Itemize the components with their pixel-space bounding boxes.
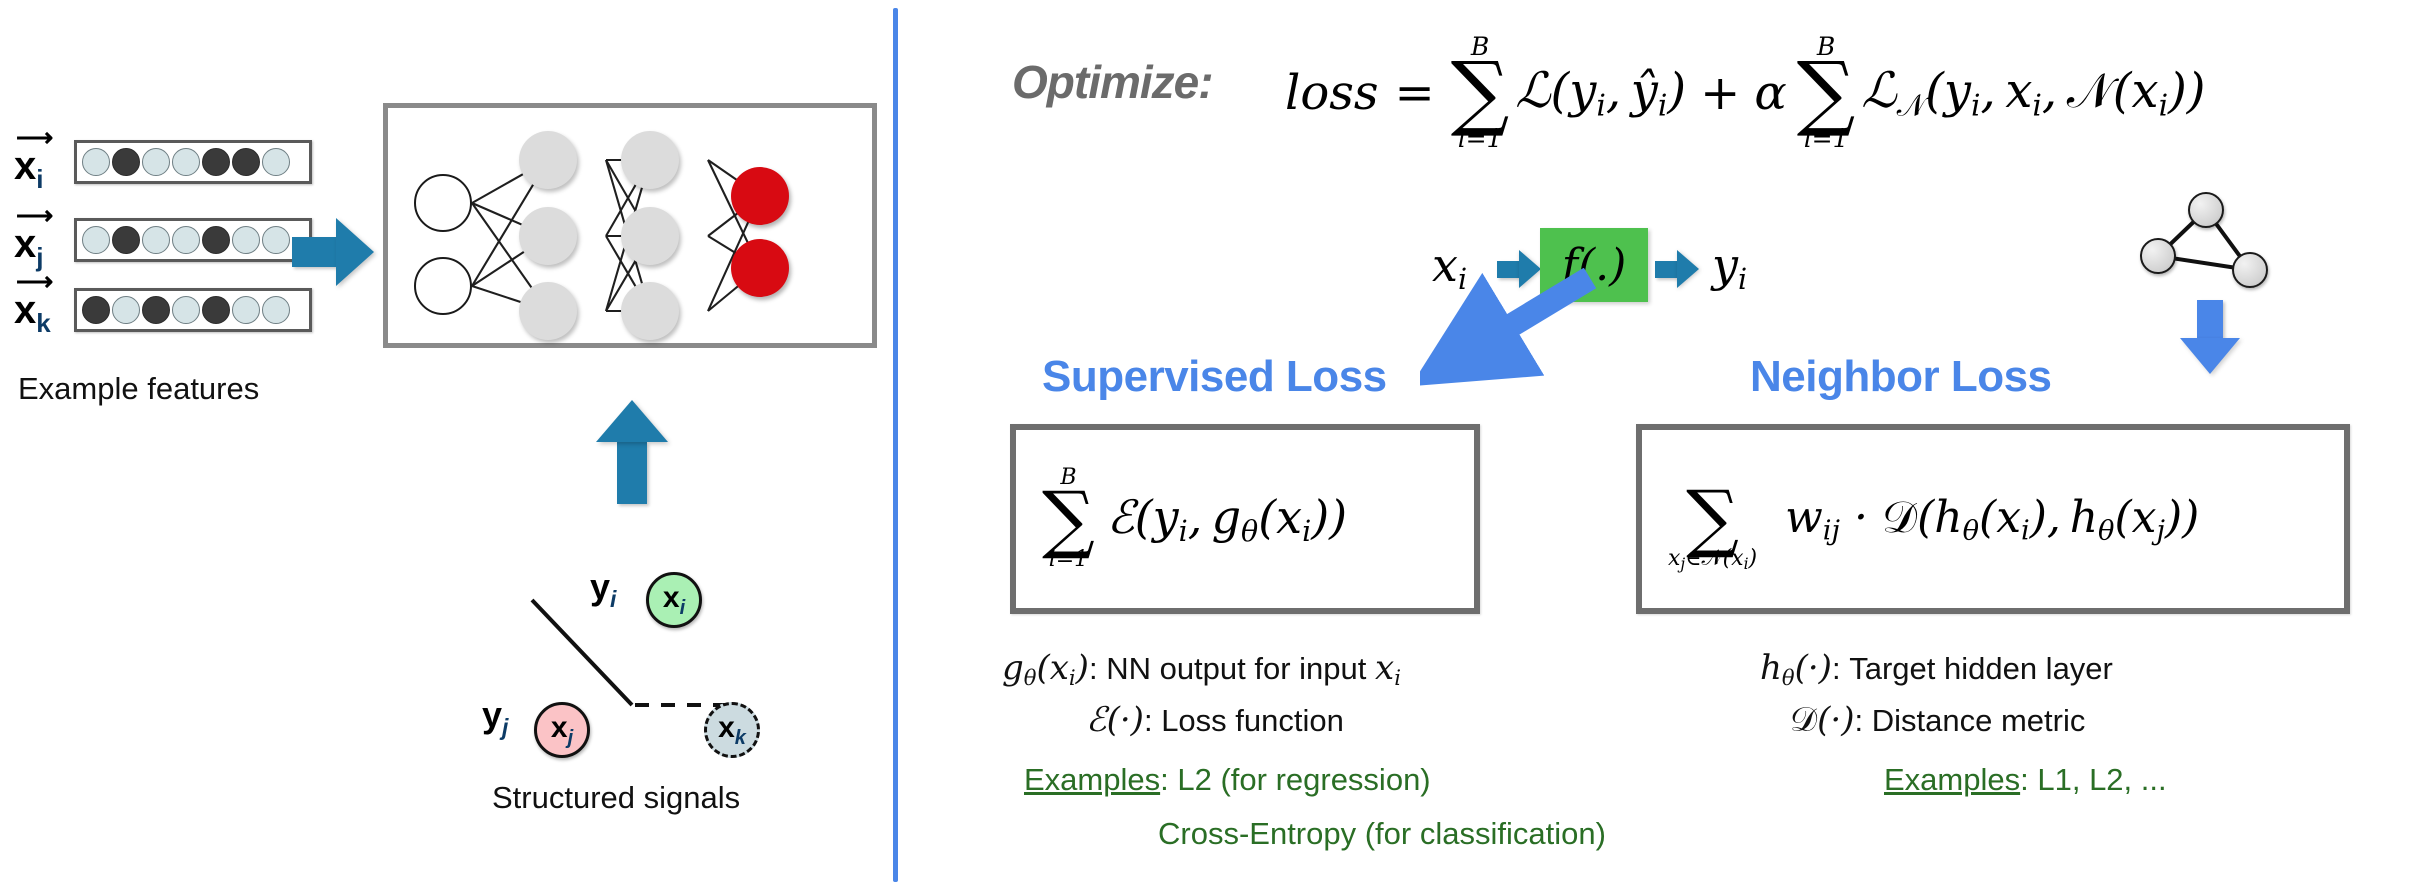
neighbor-sum: B ∑ xj∈𝒩(xi): [1668, 466, 1757, 573]
sigma-icon: ∑: [1042, 489, 1095, 550]
graph-node-xi-base: x: [663, 581, 680, 614]
arrow-to-supervised-loss: [1420, 268, 1610, 388]
graph-label-yj-sub: j: [502, 714, 508, 740]
neighbor-graph-node-left: [2140, 238, 2176, 274]
feature-dot-light: [142, 148, 170, 176]
pipeline-output-base: y: [1712, 238, 1738, 292]
supervised-legend-symbol-2: ℰ(·): [1086, 700, 1144, 740]
graph-label-yi-base: y: [590, 566, 610, 607]
feature-dot-light: [232, 296, 260, 324]
supervised-loss-heading: Supervised Loss: [1042, 352, 1387, 402]
graph-node-xk-base: x: [718, 711, 735, 744]
main-eq-alpha: α: [1754, 65, 1786, 121]
supervised-examples-colon: :: [1160, 762, 1169, 797]
main-eq-sum-1: B ∑ i=1: [1451, 34, 1510, 151]
supervised-examples-line-2: Cross-Entropy (for classification): [1158, 816, 1606, 852]
graph-label-yj-base: y: [482, 694, 502, 735]
feature-vector-row-xk: [74, 288, 312, 332]
feature-dot-dark: [232, 148, 260, 176]
neighbor-graph-node-right: [2232, 252, 2268, 288]
network-node-hidden-1a: [519, 131, 577, 189]
feature-dot-light: [262, 226, 290, 254]
neighbor-loss-heading: Neighbor Loss: [1750, 352, 2052, 402]
neural-network-box: [383, 103, 877, 348]
example-features-caption: Example features: [18, 371, 259, 407]
arrow-to-neighbor-loss: [2180, 300, 2240, 374]
neighbor-graph-icon: [2140, 178, 2290, 298]
neighbor-loss-formula: B ∑ xj∈𝒩(xi) wij · 𝒟(hθ(xi), hθ(xj)): [1642, 466, 2199, 573]
main-eq-plus: +: [1686, 65, 1754, 121]
vector-label-xk: ⟶ xk: [14, 276, 51, 336]
sigma-icon: ∑: [1797, 59, 1856, 126]
network-node-hidden-1c: [519, 282, 577, 340]
arrow-features-to-network: [292, 218, 374, 286]
neighbor-legend-symbol-1: hθ(·): [1760, 648, 1832, 688]
neighbor-legend-text-1: Target hidden layer: [1849, 651, 2113, 686]
graph-label-yi: yi: [590, 566, 616, 613]
panel-divider: [893, 8, 898, 882]
feature-vector-row-xj: [74, 218, 312, 262]
graph-label-yj: yj: [482, 694, 508, 741]
feature-dot-light: [172, 226, 200, 254]
neighbor-examples-colon: :: [2020, 762, 2029, 797]
neighbor-graph-node-top: [2188, 192, 2224, 228]
feature-dot-light: [172, 148, 200, 176]
main-eq-sum-2: B ∑ i=1: [1797, 34, 1856, 151]
graph-node-xj: xj: [534, 702, 590, 758]
supervised-legend-text-2: Loss function: [1161, 703, 1344, 738]
network-node-output-2: [731, 239, 789, 297]
neighbor-sum-body: wij · 𝒟(hθ(xi), hθ(xj)): [1757, 492, 2199, 547]
network-node-input-2: [414, 257, 472, 315]
supervised-legend-text-1: NN output for input: [1106, 651, 1366, 686]
feature-dot-light: [142, 226, 170, 254]
neighbor-example-1: L1, L2, ...: [2037, 762, 2166, 797]
supervised-legend-symbol-1: gθ(xi): [1002, 648, 1089, 688]
vector-base-xj: x: [14, 222, 36, 266]
feature-dot-dark: [142, 296, 170, 324]
pipeline-output-label: yi: [1712, 238, 1747, 296]
feature-dot-light: [262, 148, 290, 176]
sigma-icon: ∑: [1451, 59, 1510, 126]
pipeline-output-sub: i: [1738, 263, 1747, 296]
main-eq-equals: =: [1379, 65, 1451, 121]
main-eq-sum-2-lower: i=1: [1804, 126, 1849, 151]
vector-sub-xi: i: [36, 164, 43, 194]
feature-dot-dark: [202, 296, 230, 324]
neighbor-legend-sep-1: :: [1832, 651, 1841, 686]
main-eq-term-2: ℒ𝒩(yi, xi, 𝒩(xi)): [1855, 62, 2205, 123]
feature-dot-dark: [202, 148, 230, 176]
network-node-output-1: [731, 167, 789, 225]
figure-canvas: ⟶ xi ⟶ xj ⟶ xk Example features: [0, 0, 2412, 890]
feature-dot-dark: [82, 296, 110, 324]
vector-label-xi: ⟶ xi: [14, 132, 51, 192]
supervised-sum-body: ℰ(yi, gθ(xi)): [1095, 490, 1347, 548]
graph-label-yi-sub: i: [610, 586, 616, 612]
neighbor-sum-lower: xj∈𝒩(xi): [1668, 548, 1757, 572]
feature-dot-light: [232, 226, 260, 254]
feature-dot-light: [112, 296, 140, 324]
sigma-icon: ∑: [1686, 488, 1739, 549]
supervised-loss-formula: B ∑ i=1 ℰ(yi, gθ(xi)): [1016, 467, 1347, 572]
feature-dot-dark: [202, 226, 230, 254]
arrow-signals-to-network: [596, 400, 668, 504]
feature-dot-dark: [112, 226, 140, 254]
feature-dot-light: [172, 296, 200, 324]
graph-node-xk: xk: [704, 702, 760, 758]
neighbor-loss-box: B ∑ xj∈𝒩(xi) wij · 𝒟(hθ(xi), hθ(xj)): [1636, 424, 2350, 614]
network-node-hidden-2b: [621, 207, 679, 265]
feature-dot-light: [82, 226, 110, 254]
neighbor-examples-line-1: Examples: L1, L2, ...: [1884, 762, 2167, 798]
network-node-hidden-1b: [519, 207, 577, 265]
graph-node-xj-base: x: [551, 711, 568, 744]
neighbor-legend-text-2: Distance metric: [1872, 703, 2086, 738]
supervised-example-1: L2 (for regression): [1177, 762, 1430, 797]
neighbor-legend-symbol-2: 𝒟(·): [1790, 700, 1854, 740]
main-eq-term-1: ℒ(yi, ŷi): [1509, 62, 1686, 123]
supervised-legend-sep-1: :: [1089, 651, 1098, 686]
main-loss-equation: loss = B ∑ i=1 ℒ(yi, ŷi) + α B ∑ i=1 ℒ𝒩(…: [1285, 34, 2206, 151]
supervised-legend-sep-2: :: [1144, 703, 1153, 738]
graph-node-xj-sub: j: [568, 727, 574, 749]
supervised-loss-box: B ∑ i=1 ℰ(yi, gθ(xi)): [1010, 424, 1480, 614]
supervised-examples-label: Examples: [1024, 762, 1160, 797]
main-eq-sum-1-lower: i=1: [1458, 126, 1503, 151]
neighbor-legend-line-1: hθ(·): Target hidden layer: [1760, 648, 2113, 690]
vector-sub-xk: k: [36, 308, 50, 338]
vector-base-xk: x: [14, 288, 36, 332]
network-node-hidden-2c: [621, 282, 679, 340]
neighbor-legend-sep-2: :: [1854, 703, 1863, 738]
network-node-hidden-2a: [621, 131, 679, 189]
main-eq-lhs: loss: [1285, 65, 1379, 121]
supervised-sum-lower: i=1: [1049, 549, 1088, 571]
feature-vector-row-xi: [74, 140, 312, 184]
supervised-sum: B ∑ i=1: [1042, 467, 1095, 572]
feature-dot-dark: [112, 148, 140, 176]
vector-base-xi: x: [14, 144, 36, 188]
supervised-legend-trailing-1: xi: [1375, 648, 1401, 688]
supervised-legend-line-1: gθ(xi): NN output for input xi: [1002, 648, 1401, 690]
feature-dot-light: [82, 148, 110, 176]
vector-label-xj: ⟶ xj: [14, 210, 51, 270]
neighbor-legend-line-2: 𝒟(·): Distance metric: [1790, 700, 2085, 740]
arrow-function-to-output: [1655, 250, 1699, 288]
graph-node-xi: xi: [646, 572, 702, 628]
graph-node-xi-sub: i: [680, 597, 686, 619]
supervised-examples-line-1: Examples: L2 (for regression): [1024, 762, 1431, 798]
network-node-input-1: [414, 174, 472, 232]
graph-node-xk-sub: k: [735, 727, 746, 749]
optimize-label: Optimize:: [1012, 55, 1213, 109]
feature-dot-light: [262, 296, 290, 324]
neighbor-examples-label: Examples: [1884, 762, 2020, 797]
structured-signals-caption: Structured signals: [492, 780, 740, 816]
supervised-legend-line-2: ℰ(·): Loss function: [1086, 700, 1344, 740]
